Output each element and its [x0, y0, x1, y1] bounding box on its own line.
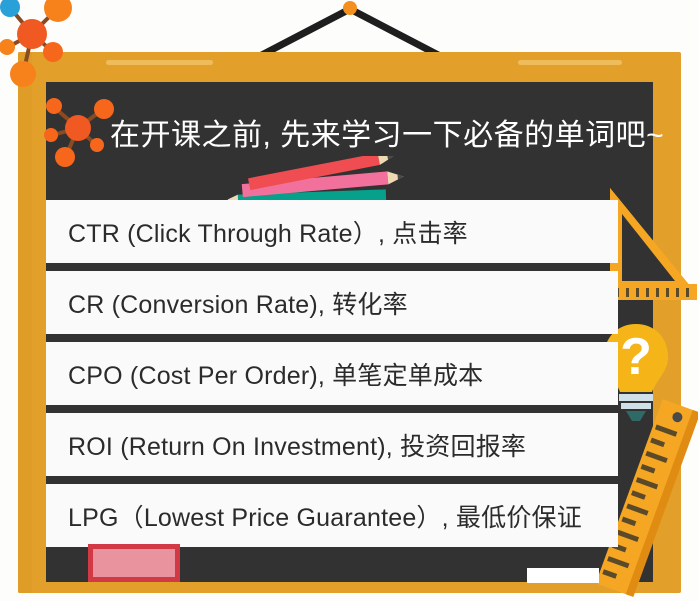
- molecule-icon: [38, 88, 118, 168]
- list-item[interactable]: LPG（Lowest Price Guarantee）, 最低价保证: [46, 484, 618, 547]
- list-item[interactable]: CTR (Click Through Rate）, 点击率: [46, 200, 618, 263]
- term-text: CTR (Click Through Rate）, 点击率: [68, 214, 468, 250]
- molecule-icon: [0, 0, 76, 92]
- svg-text:?: ?: [620, 328, 652, 386]
- term-text: CR (Conversion Rate), 转化率: [68, 285, 408, 321]
- list-item[interactable]: CPO (Cost Per Order), 单笔定单成本: [46, 342, 618, 405]
- eraser-icon: [88, 544, 180, 582]
- term-text: ROI (Return On Investment), 投资回报率: [68, 427, 526, 463]
- list-item[interactable]: ROI (Return On Investment), 投资回报率: [46, 413, 618, 476]
- frame-highlight-right: [518, 60, 622, 65]
- page-title-text: 在开课之前, 先来学习一下必备的单词吧~: [110, 110, 664, 154]
- chalkboard-poster: 在开课之前, 先来学习一下必备的单词吧~: [0, 0, 699, 601]
- frame-highlight-left: [106, 60, 213, 65]
- list-item[interactable]: CR (Conversion Rate), 转化率: [46, 271, 618, 334]
- chalk-icon: [527, 568, 599, 583]
- page-title: 在开课之前, 先来学习一下必备的单词吧~: [110, 109, 640, 155]
- frame-shade: [18, 52, 32, 593]
- term-list: CTR (Click Through Rate）, 点击率 CR (Conver…: [46, 200, 618, 555]
- term-text: CPO (Cost Per Order), 单笔定单成本: [68, 356, 483, 392]
- term-text: LPG（Lowest Price Guarantee）, 最低价保证: [68, 498, 582, 534]
